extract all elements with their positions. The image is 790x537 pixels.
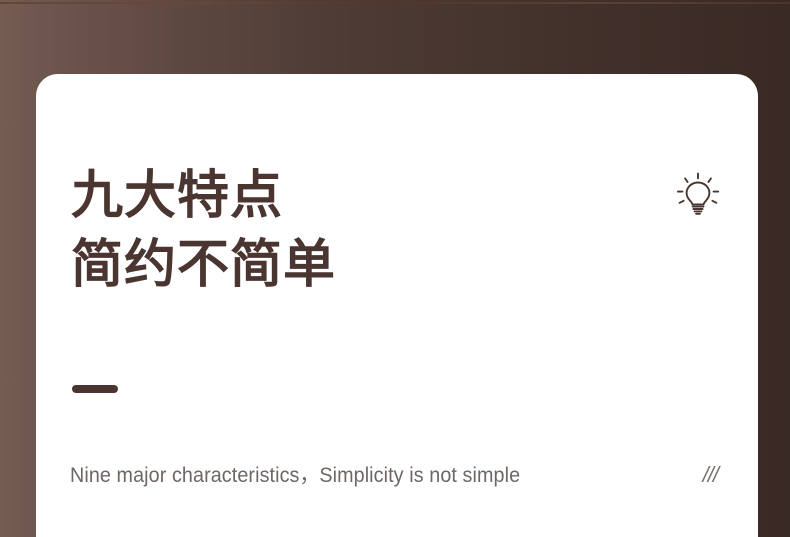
content-card: 九大特点 简约不简单 Nine major characteristics，Si… [36, 74, 758, 537]
headline-line-1: 九大特点 [71, 162, 336, 231]
headline-line-2: 简约不简单 [71, 231, 336, 300]
slash-decoration: /// [703, 462, 718, 488]
subtitle-text: Nine major characteristics，Simplicity is… [70, 459, 520, 489]
page-title: 九大特点 简约不简单 [71, 162, 336, 299]
content-card-inner: 九大特点 简约不简单 Nine major characteristics，Si… [36, 74, 758, 537]
lightbulb-icon [676, 172, 720, 218]
subtitle-row: Nine major characteristics，Simplicity is… [70, 459, 720, 489]
title-underline-rule [72, 385, 118, 393]
promo-banner: 九大特点 简约不简单 Nine major characteristics，Si… [0, 0, 790, 537]
top-edge-texture-sliver [0, 0, 790, 4]
